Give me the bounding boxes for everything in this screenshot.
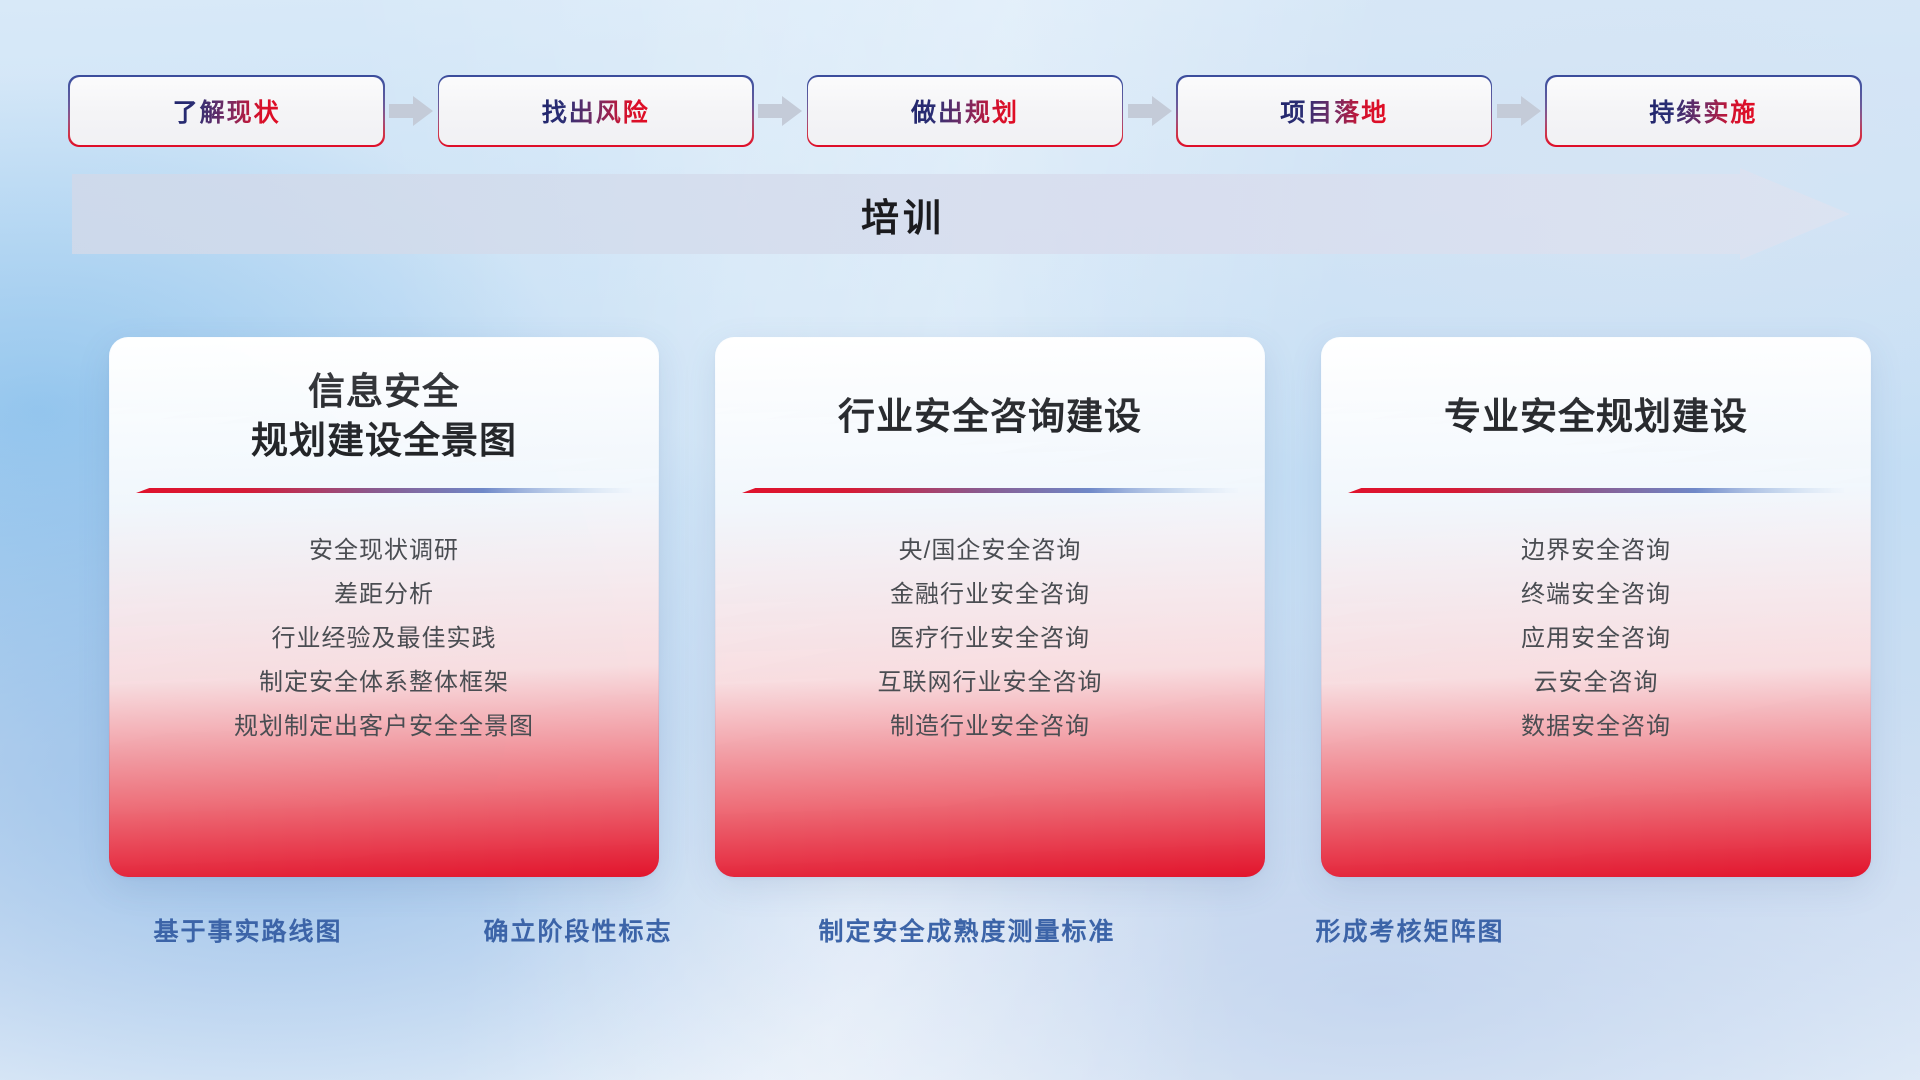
process-step-label: 做出规划: [911, 93, 1019, 129]
footer-labels-row: 基于事实路线图 确立阶段性标志 制定安全成熟度测量标准 形成考核矩阵图: [0, 912, 1920, 958]
process-step-label: 持续实施: [1649, 93, 1757, 129]
process-step-2[interactable]: 找出风险: [439, 77, 752, 145]
card-title-line: 信息安全: [251, 368, 517, 417]
card-divider: [1348, 488, 1844, 499]
list-item: 差距分析: [136, 573, 632, 617]
footer-label: 形成考核矩阵图: [1315, 912, 1504, 948]
list-item: 安全现状调研: [136, 529, 632, 573]
process-step-label: 了解现状: [173, 93, 281, 129]
card-divider: [136, 488, 632, 499]
cards-container: 信息安全 规划建设全景图: [110, 338, 1870, 876]
process-step-label: 找出风险: [542, 93, 650, 129]
process-step-1[interactable]: 了解现状: [70, 77, 383, 145]
process-step-4[interactable]: 项目落地: [1178, 77, 1491, 145]
card-divider: [742, 488, 1238, 499]
chevron-right-icon: [383, 94, 439, 128]
card-title-line: 规划建设全景图: [251, 417, 517, 466]
card-title-line: 行业安全咨询建设: [838, 393, 1142, 442]
list-item: 终端安全咨询: [1348, 573, 1844, 617]
footer-label: 基于事实路线图: [153, 912, 342, 948]
list-item: 边界安全咨询: [1348, 529, 1844, 573]
list-item: 制造行业安全咨询: [742, 705, 1238, 749]
process-step-5[interactable]: 持续实施: [1547, 77, 1860, 145]
footer-label: 制定安全成熟度测量标准: [818, 912, 1115, 948]
footer-label: 确立阶段性标志: [483, 912, 672, 948]
list-item: 互联网行业安全咨询: [742, 661, 1238, 705]
list-item: 云安全咨询: [1348, 661, 1844, 705]
card-title: 行业安全咨询建设: [838, 368, 1142, 466]
card-item-list: 边界安全咨询 终端安全咨询 应用安全咨询 云安全咨询 数据安全咨询: [1348, 529, 1844, 749]
list-item: 医疗行业安全咨询: [742, 617, 1238, 661]
card-item-list: 央/国企安全咨询 金融行业安全咨询 医疗行业安全咨询 互联网行业安全咨询 制造行…: [742, 529, 1238, 749]
training-banner: 培训: [72, 168, 1850, 260]
banner-title: 培训: [72, 168, 1734, 260]
chevron-right-icon: [1122, 94, 1178, 128]
list-item: 数据安全咨询: [1348, 705, 1844, 749]
process-step-label: 项目落地: [1280, 93, 1388, 129]
list-item: 规划制定出客户安全全景图: [136, 705, 632, 749]
card-panorama[interactable]: 信息安全 规划建设全景图: [110, 338, 658, 876]
card-title: 专业安全规划建设: [1444, 368, 1748, 466]
process-step-3[interactable]: 做出规划: [808, 77, 1121, 145]
card-title-line: 专业安全规划建设: [1444, 393, 1748, 442]
list-item: 金融行业安全咨询: [742, 573, 1238, 617]
chevron-right-icon: [1491, 94, 1547, 128]
card-item-list: 安全现状调研 差距分析 行业经验及最佳实践 制定安全体系整体框架 规划制定出客户…: [136, 529, 632, 749]
card-industry-consulting[interactable]: 行业安全咨询建设: [716, 338, 1264, 876]
list-item: 应用安全咨询: [1348, 617, 1844, 661]
list-item: 行业经验及最佳实践: [136, 617, 632, 661]
chevron-right-icon: [752, 94, 808, 128]
list-item: 制定安全体系整体框架: [136, 661, 632, 705]
card-title: 信息安全 规划建设全景图: [251, 368, 517, 466]
list-item: 央/国企安全咨询: [742, 529, 1238, 573]
slide-canvas: 了解现状 找出风险 做出规划 项目落地 持续实施: [0, 0, 1920, 1080]
process-steps-row: 了解现状 找出风险 做出规划 项目落地 持续实施: [70, 76, 1860, 146]
card-professional-planning[interactable]: 专业安全规划建设: [1322, 338, 1870, 876]
